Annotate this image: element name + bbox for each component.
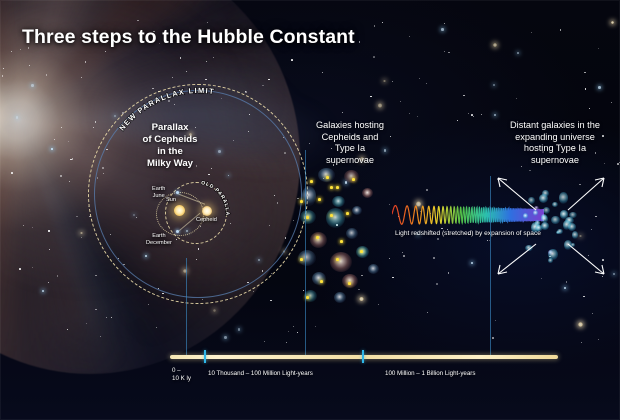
star bbox=[16, 116, 19, 119]
star bbox=[322, 72, 323, 73]
star bbox=[578, 322, 583, 327]
star bbox=[268, 79, 270, 81]
host-galaxy bbox=[330, 252, 352, 272]
star bbox=[49, 249, 50, 250]
host-galaxy bbox=[344, 170, 359, 183]
star bbox=[378, 304, 379, 305]
host-galaxy bbox=[310, 232, 327, 248]
parallax-label-line-4: Milky Way bbox=[118, 158, 222, 170]
star bbox=[493, 43, 497, 47]
middle-label-line-2: Cepheids and bbox=[296, 132, 404, 144]
star bbox=[81, 237, 82, 238]
panel-label-parallax: Parallax of Cepheids in the Milky Way bbox=[118, 122, 222, 170]
connector-line-right bbox=[490, 176, 491, 358]
star bbox=[245, 91, 247, 93]
star bbox=[373, 56, 375, 58]
star bbox=[436, 283, 438, 285]
earth-december-label-line-1: Earth bbox=[146, 233, 172, 240]
host-galaxy bbox=[332, 196, 345, 207]
middle-label-line-4: supernovae bbox=[296, 155, 404, 167]
cepheid-marker-dot bbox=[320, 280, 323, 283]
star bbox=[359, 41, 360, 42]
star bbox=[291, 59, 293, 61]
scale-left-line-2: 10 K ly bbox=[172, 375, 191, 383]
star bbox=[492, 337, 494, 339]
star bbox=[67, 329, 68, 330]
star bbox=[517, 52, 519, 54]
earth-june-label-line-1: Earth bbox=[152, 186, 165, 193]
right-label-line-1: Distant galaxies in the bbox=[496, 120, 614, 132]
cepheid-star-marker bbox=[202, 206, 212, 216]
star bbox=[358, 289, 360, 291]
star bbox=[297, 332, 298, 333]
host-galaxy bbox=[346, 228, 358, 239]
star bbox=[76, 216, 77, 217]
scale-caption-left: 0 – 10 K ly bbox=[172, 367, 191, 383]
star bbox=[585, 88, 587, 90]
star bbox=[48, 230, 49, 231]
middle-label-line-1: Galaxies hosting bbox=[296, 120, 404, 132]
host-galaxy bbox=[318, 168, 335, 182]
cepheid-marker-dot bbox=[348, 282, 351, 285]
star bbox=[207, 22, 208, 23]
star bbox=[95, 275, 96, 276]
arrow-down-left bbox=[498, 244, 536, 274]
star bbox=[11, 172, 13, 174]
cepheid-marker-dot bbox=[318, 198, 321, 201]
scale-tick-right bbox=[362, 350, 364, 363]
cepheid-marker-dot bbox=[360, 250, 363, 253]
star bbox=[516, 98, 517, 99]
connector-line-left bbox=[186, 258, 187, 358]
star bbox=[402, 252, 403, 253]
star bbox=[80, 232, 83, 235]
scale-caption-middle: 10 Thousand – 100 Million Light-years bbox=[208, 370, 313, 378]
star bbox=[433, 257, 435, 259]
star bbox=[448, 272, 450, 274]
star bbox=[224, 336, 227, 339]
star bbox=[417, 116, 418, 117]
cepheid-marker-dot bbox=[306, 296, 309, 299]
star bbox=[2, 75, 4, 77]
cepheid-marker-dot bbox=[330, 186, 333, 189]
infographic-canvas: Three steps to the Hubble Constant NEW P… bbox=[0, 0, 620, 420]
star bbox=[100, 336, 101, 337]
host-galaxy bbox=[368, 264, 379, 274]
star bbox=[172, 77, 173, 78]
host-galaxy bbox=[312, 272, 326, 285]
cepheid-marker-dot bbox=[310, 180, 313, 183]
sun-marker bbox=[174, 205, 185, 216]
arrow-up-right bbox=[568, 178, 604, 210]
star bbox=[315, 326, 316, 327]
parallax-label-line-3: in the bbox=[118, 146, 222, 158]
arrow-down-right bbox=[568, 244, 604, 274]
earth-june-label: Earth June bbox=[152, 186, 165, 199]
cepheid-marker-dot bbox=[340, 240, 343, 243]
star bbox=[31, 84, 34, 87]
star bbox=[48, 282, 49, 283]
star bbox=[437, 238, 439, 240]
star bbox=[448, 52, 450, 54]
cepheid-label: Cepheid bbox=[196, 217, 217, 224]
star bbox=[54, 139, 56, 141]
parallax-label-line-1: Parallax bbox=[118, 122, 222, 134]
star bbox=[444, 51, 445, 52]
right-label-line-2: expanding universe bbox=[496, 132, 614, 144]
cepheid-marker-dot bbox=[306, 216, 309, 219]
parallax-label-line-2: of Cepheids bbox=[118, 134, 222, 146]
page-title: Three steps to the Hubble Constant bbox=[22, 26, 355, 49]
middle-label-line-3: Type Ia bbox=[296, 143, 404, 155]
distance-scale-bar bbox=[170, 355, 558, 359]
cepheid-marker-dot bbox=[316, 236, 319, 239]
star bbox=[495, 320, 496, 321]
star bbox=[51, 148, 53, 150]
star bbox=[409, 36, 410, 37]
right-label-line-3: hosting Type Ia bbox=[496, 143, 614, 155]
host-galaxy bbox=[326, 208, 345, 228]
cepheid-marker-dot bbox=[330, 214, 333, 217]
arrow-up-left bbox=[498, 178, 536, 210]
host-galaxy bbox=[362, 188, 373, 198]
scale-caption-right: 100 Million – 1 Billion Light-years bbox=[385, 370, 475, 378]
star bbox=[441, 28, 444, 31]
star bbox=[463, 95, 464, 96]
cepheid-marker-dot bbox=[326, 176, 329, 179]
scale-left-line-1: 0 – bbox=[172, 367, 191, 375]
cepheid-marker-dot bbox=[336, 258, 339, 261]
connector-line-mid bbox=[305, 150, 306, 358]
star bbox=[531, 32, 532, 33]
star bbox=[589, 108, 590, 109]
panel-label-middle: Galaxies hosting Cepheids and Type Ia su… bbox=[296, 120, 404, 166]
earth-june-label-line-2: June bbox=[152, 193, 165, 200]
star bbox=[20, 49, 21, 50]
star bbox=[93, 127, 94, 128]
star bbox=[95, 121, 96, 122]
cepheid-marker-dot bbox=[346, 212, 349, 215]
host-galaxy bbox=[352, 206, 362, 215]
star bbox=[152, 88, 153, 89]
star bbox=[60, 175, 61, 176]
cepheid-marker-dot bbox=[352, 178, 355, 181]
star bbox=[378, 103, 383, 108]
cepheid-marker-dot bbox=[300, 200, 303, 203]
star bbox=[137, 20, 138, 21]
star bbox=[95, 309, 97, 311]
host-galaxy bbox=[334, 292, 346, 303]
star bbox=[403, 255, 405, 257]
star bbox=[598, 48, 599, 49]
star bbox=[426, 189, 428, 191]
star bbox=[19, 268, 21, 270]
cepheid-marker-dot bbox=[336, 186, 339, 189]
sun-label: Sun bbox=[166, 197, 176, 204]
star bbox=[81, 77, 82, 78]
expansion-arrows bbox=[480, 160, 620, 290]
star bbox=[359, 297, 363, 301]
earth-december-label-line-2: December bbox=[146, 240, 172, 247]
star bbox=[481, 114, 483, 116]
cepheid-marker-dot bbox=[300, 258, 303, 261]
star bbox=[598, 86, 601, 89]
earth-december-label: Earth December bbox=[146, 233, 172, 246]
host-galaxy bbox=[342, 274, 358, 288]
scale-tick-left bbox=[204, 350, 206, 363]
